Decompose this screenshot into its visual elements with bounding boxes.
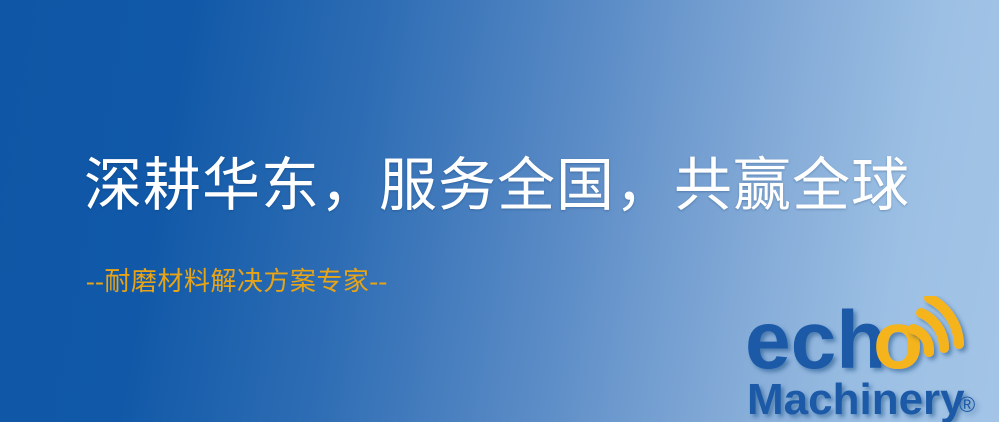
banner-headline: 深耕华东，服务全国，共赢全球 [84, 153, 910, 219]
banner-subtitle: --耐磨材料解决方案专家-- [86, 266, 388, 298]
logo-tagline-text: Machinery [747, 375, 965, 422]
hero-banner: 深耕华东，服务全国，共赢全球 --耐磨材料解决方案专家-- ech o [0, 0, 999, 422]
logo-tagline: Machinery ® [747, 375, 975, 422]
logo-wordmark-o-text: o [873, 296, 923, 386]
echo-machinery-logo[interactable]: ech o Machinery ® [745, 296, 999, 422]
logo-wordmark-o: o [873, 296, 923, 386]
registered-trademark-icon: ® [959, 392, 975, 417]
logo-wordmark-ech: ech [745, 296, 886, 386]
logo-wordmark-lead-text: ech [745, 296, 886, 386]
